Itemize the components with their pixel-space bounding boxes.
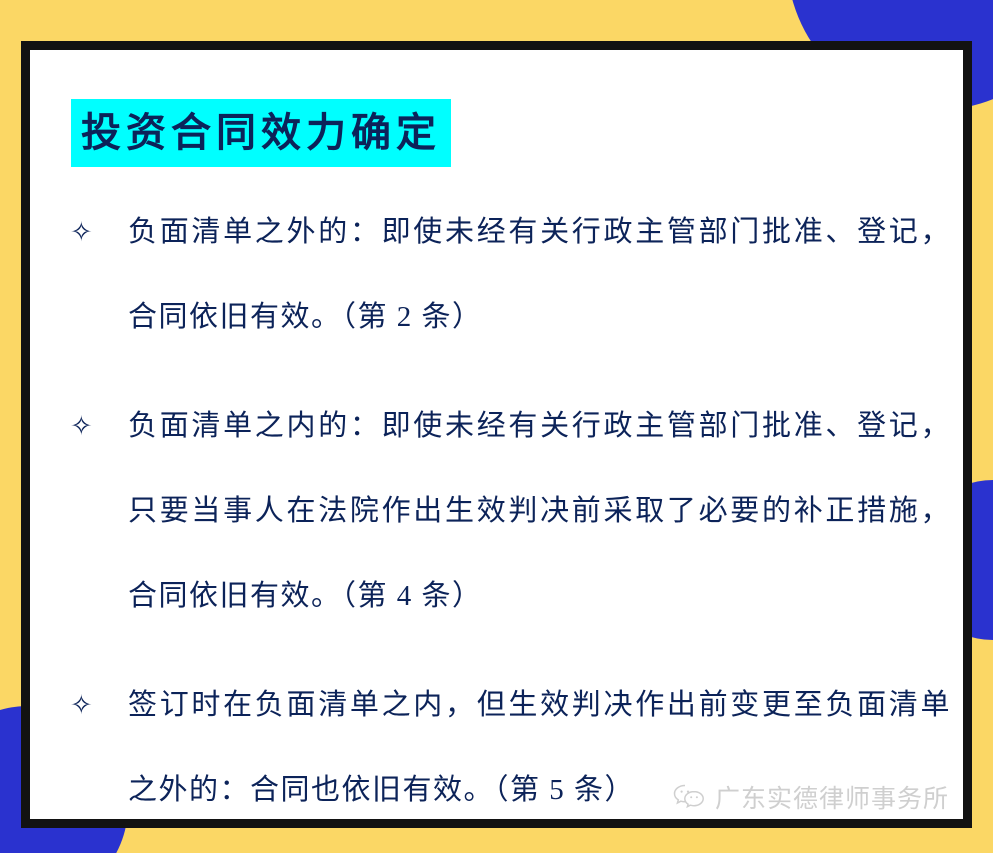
list-item: ✧ 负面清单之内的：即使未经有关行政主管部门批准、登记，只要当事人在法院作出生效… [66, 384, 951, 639]
bullet-list: ✧ 负面清单之外的：即使未经有关行政主管部门批准、登记，合同依旧有效。（第 2 … [66, 190, 951, 828]
list-item-text: 负面清单之内的：即使未经有关行政主管部门批准、登记，只要当事人在法院作出生效判决… [128, 384, 951, 639]
page-title: 投资合同效力确定 [71, 99, 451, 167]
slide-frame: 投资合同效力确定 ✧ 负面清单之外的：即使未经有关行政主管部门批准、登记，合同依… [21, 41, 972, 828]
diamond-bullet-icon: ✧ [66, 190, 128, 275]
slide-canvas: 投资合同效力确定 ✧ 负面清单之外的：即使未经有关行政主管部门批准、登记，合同依… [0, 0, 993, 853]
diamond-bullet-icon: ✧ [66, 663, 128, 748]
wechat-icon [673, 784, 707, 811]
list-item-text: 负面清单之外的：即使未经有关行政主管部门批准、登记，合同依旧有效。（第 2 条） [128, 190, 951, 360]
watermark: 广东实德律师事务所 [673, 779, 949, 815]
list-item: ✧ 负面清单之外的：即使未经有关行政主管部门批准、登记，合同依旧有效。（第 2 … [66, 190, 951, 360]
watermark-text: 广东实德律师事务所 [715, 779, 949, 815]
page-title-container: 投资合同效力确定 [71, 99, 451, 167]
diamond-bullet-icon: ✧ [66, 384, 128, 469]
